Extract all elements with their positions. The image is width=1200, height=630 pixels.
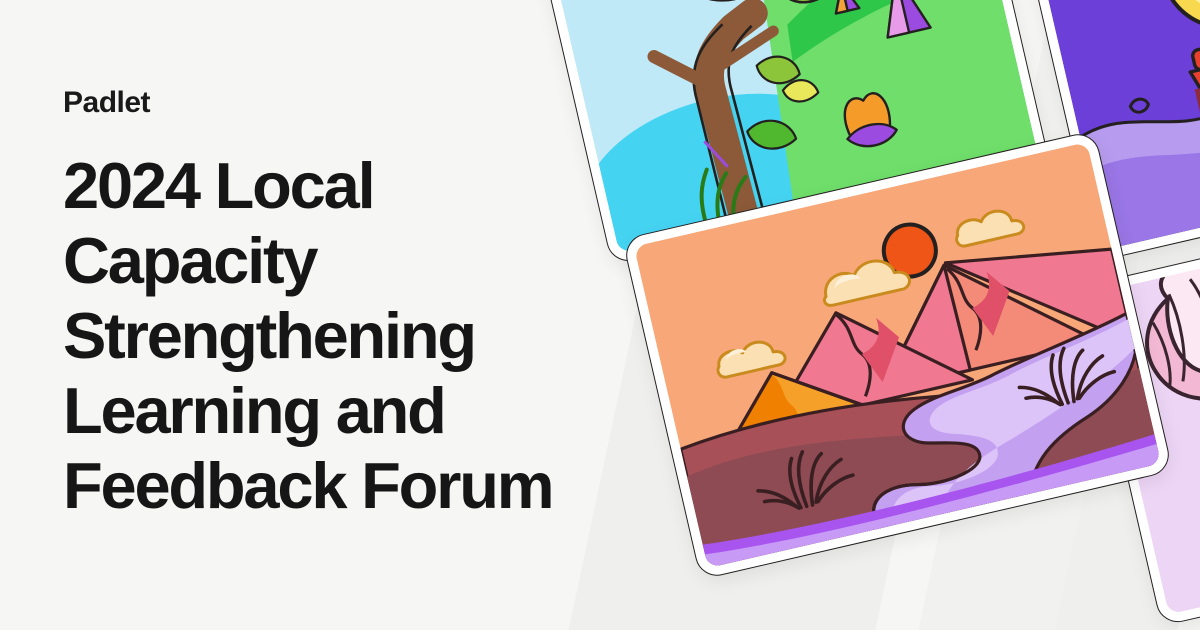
text-column: Padlet 2024 Local Capacity Strengthening…: [63, 88, 583, 523]
poster-canvas: Padlet 2024 Local Capacity Strengthening…: [0, 0, 1200, 630]
page-title: 2024 Local Capacity Strengthening Learni…: [63, 148, 583, 523]
padlet-logo: Padlet: [63, 88, 583, 118]
